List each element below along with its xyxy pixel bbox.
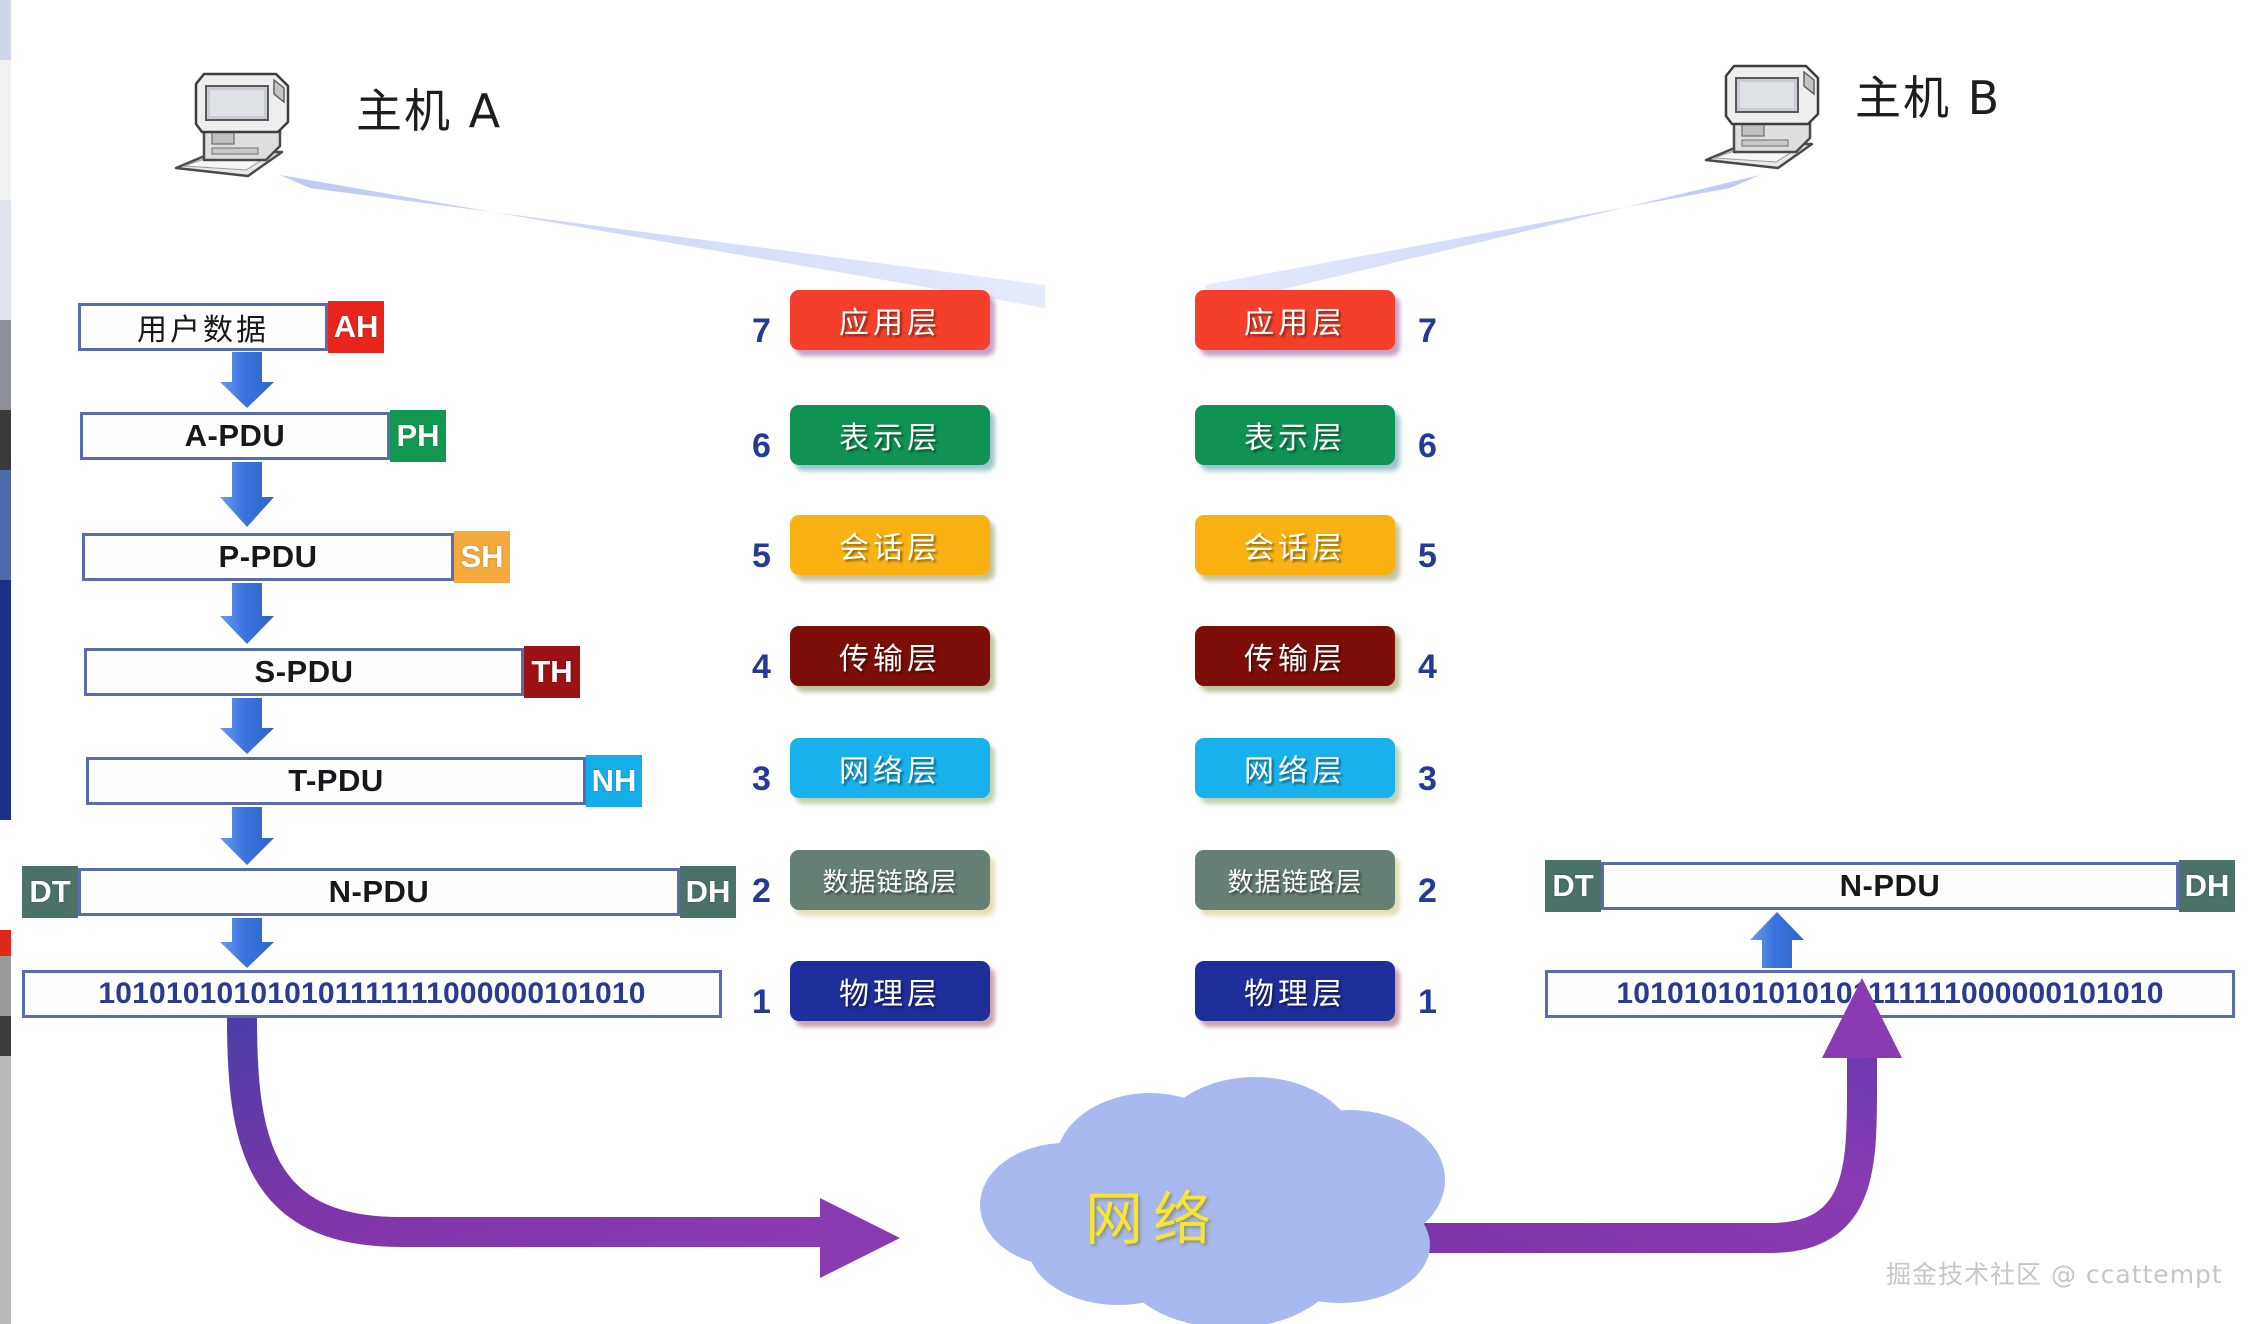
osi-encapsulation-diagram: 主机 A 主机 B 用户数据 AH A-PDU PH: [0, 0, 2248, 1324]
network-cloud-label: 网络: [1085, 1172, 1221, 1256]
network-transport-layer: [0, 0, 2248, 1324]
watermark-label: 掘金技术社区 @ ccattempt: [1886, 1255, 2223, 1291]
